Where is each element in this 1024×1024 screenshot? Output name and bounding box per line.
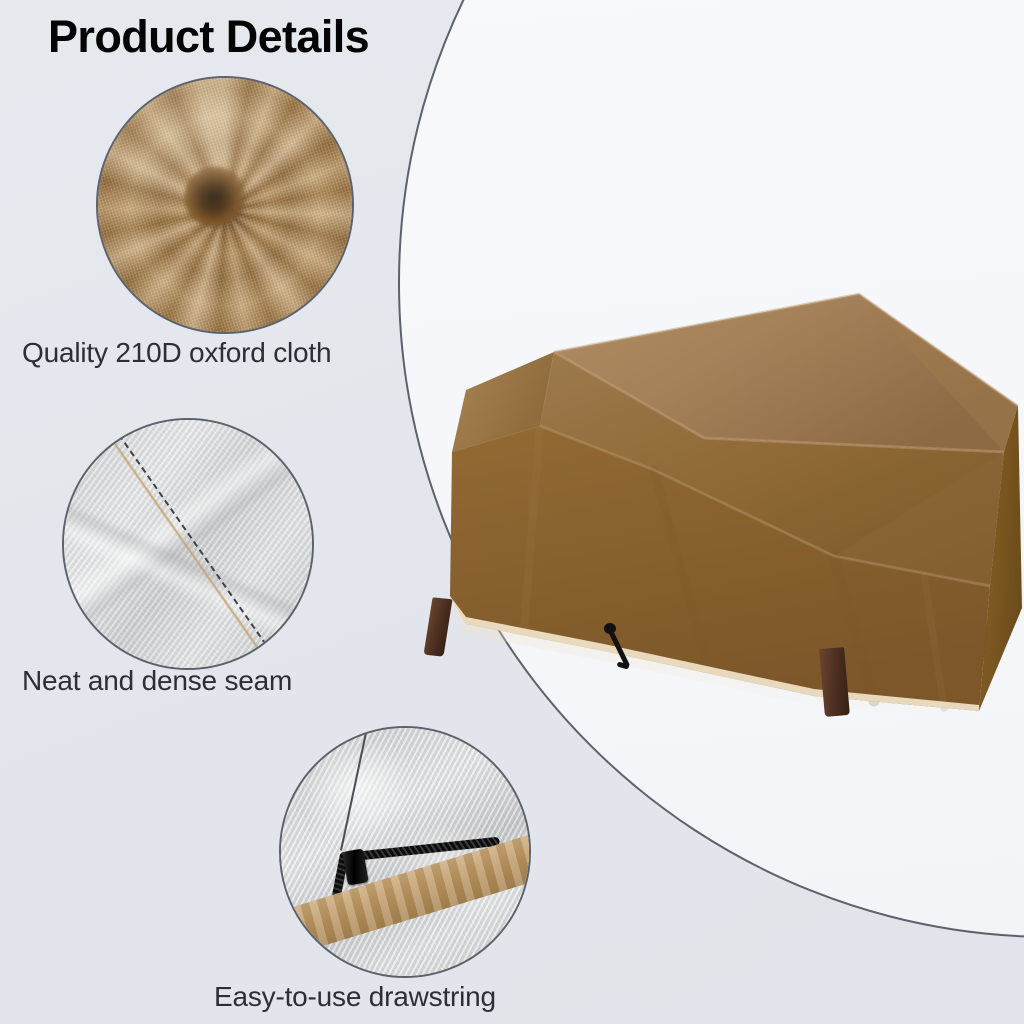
- caption-seam: Neat and dense seam: [22, 665, 292, 697]
- product-detail-image: Product Details Quality 210D oxford clot…: [0, 0, 1024, 1024]
- product-drawstring-toggle: [600, 623, 634, 679]
- detail-circle-seam: [62, 418, 314, 670]
- bench-cover-body: [404, 256, 1024, 756]
- detail-circle-drawstring: [279, 726, 531, 978]
- fabric-highlight: [98, 78, 352, 332]
- caption-fabric: Quality 210D oxford cloth: [22, 337, 331, 369]
- product-image-bench-cover: [404, 256, 1024, 756]
- detail-circle-fabric: [96, 76, 354, 334]
- page-title: Product Details: [48, 12, 369, 62]
- caption-drawstring: Easy-to-use drawstring: [214, 981, 496, 1013]
